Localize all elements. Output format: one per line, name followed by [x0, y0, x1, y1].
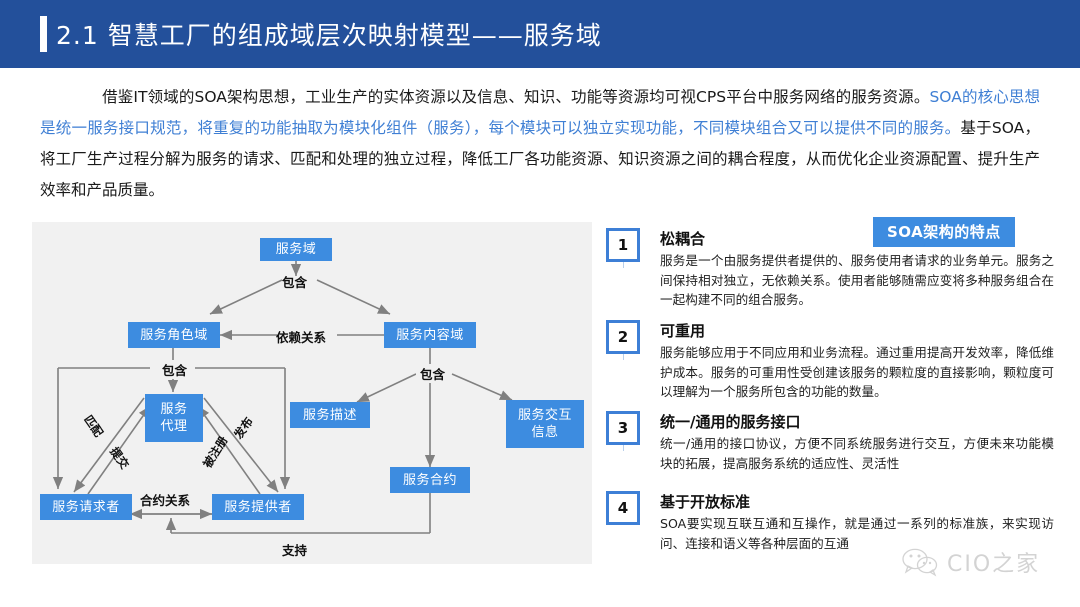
diagram-node-service-content-domain[interactable]: 服务内容域: [384, 322, 476, 348]
feature-number-badge: 3: [606, 411, 640, 445]
edge-label-contains-top: 包含: [282, 272, 307, 291]
feature-text-block: 统一/通用的服务接口 统一/通用的接口协议，方便不同系统服务进行交互，方便未来功…: [660, 411, 1054, 473]
node-label: 服务角色域: [140, 327, 208, 344]
feature-number-column: 2: [604, 320, 660, 354]
body-paragraph: 借鉴IT领域的SOA架构思想，工业生产的实体资源以及信息、知识、功能等资源均可视…: [40, 82, 1040, 206]
feature-body: 服务能够应用于不同应用和业务流程。通过重用提高开发效率，降低维护成本。服务的可重…: [660, 343, 1054, 402]
feature-connector-line: [623, 262, 624, 268]
diagram-node-service-requester[interactable]: 服务请求者: [40, 494, 132, 520]
watermark-text: CIO之家: [947, 546, 1040, 578]
slide-page: 2.1 智慧工厂的组成域层次映射模型——服务域 借鉴IT领域的SOA架构思想，工…: [0, 0, 1080, 607]
feature-item[interactable]: 1 松耦合 服务是一个由服务提供者提供的、服务使用者请求的业务单元。服务之间保持…: [604, 228, 1054, 320]
diagram-node-service-role-domain[interactable]: 服务角色域: [128, 322, 220, 348]
watermark: CIO之家: [900, 546, 1040, 578]
node-label: 服务描述: [303, 407, 357, 424]
feature-heading: 基于开放标准: [660, 491, 1054, 513]
feature-number-badge: 1: [606, 228, 640, 262]
edge-label-text: 合约关系: [140, 493, 190, 508]
diagram-node-service-provider[interactable]: 服务提供者: [212, 494, 304, 520]
paragraph-segment-1: 借鉴IT领域的SOA架构思想，工业生产的实体资源以及信息、知识、功能等资源均可视…: [102, 88, 929, 106]
diagram-node-service-contract[interactable]: 服务合约: [390, 467, 470, 493]
feature-item[interactable]: 2 可重用 服务能够应用于不同应用和业务流程。通过重用提高开发效率，降低维护成本…: [604, 320, 1054, 411]
feature-item[interactable]: 3 统一/通用的服务接口 统一/通用的接口协议，方便不同系统服务进行交互，方便未…: [604, 411, 1054, 491]
feature-text-block: 基于开放标准 SOA要实现互联互通和互操作，就是通过一系列的标准族，来实现访问、…: [660, 491, 1054, 553]
feature-item[interactable]: 4 基于开放标准 SOA要实现互联互通和互操作，就是通过一系列的标准族，来实现访…: [604, 491, 1054, 553]
edge-label-text: 支持: [282, 543, 307, 558]
feature-body: 统一/通用的接口协议，方便不同系统服务进行交互，方便未来功能模块的拓展，提高服务…: [660, 434, 1054, 473]
slide-header: 2.1 智慧工厂的组成域层次映射模型——服务域: [0, 0, 1080, 68]
feature-number-badge: 4: [606, 491, 640, 525]
wechat-icon: [900, 547, 940, 577]
edge-label-text: 包含: [162, 363, 187, 378]
diagram-node-service-description[interactable]: 服务描述: [290, 402, 370, 428]
header-accent-bar: [40, 16, 47, 52]
node-label-line1: 服务交互: [518, 407, 572, 424]
node-label-line1: 服务: [160, 401, 187, 418]
feature-heading: 可重用: [660, 320, 1054, 342]
edge-label-support: 支持: [282, 540, 307, 559]
edge-label-dependency: 依赖关系: [276, 327, 326, 346]
edge-label-contains-right: 包含: [416, 364, 449, 383]
service-domain-diagram: 服务域 服务角色域 服务内容域 服务 代理 服务请求者 服务提供者 服务描述 服…: [32, 222, 592, 564]
diagram-node-service-agent[interactable]: 服务 代理: [145, 394, 203, 442]
edge-label-contract-relation: 合约关系: [140, 490, 190, 509]
diagram-node-service-interaction-info[interactable]: 服务交互 信息: [506, 400, 584, 448]
edge-label-text: 依赖关系: [276, 330, 326, 345]
diagram-node-service-domain[interactable]: 服务域: [260, 238, 332, 261]
feature-number-column: 4: [604, 491, 660, 525]
node-label: 服务提供者: [224, 499, 292, 516]
feature-heading: 松耦合: [660, 228, 1054, 250]
soa-feature-list: 1 松耦合 服务是一个由服务提供者提供的、服务使用者请求的业务单元。服务之间保持…: [604, 228, 1054, 553]
feature-text-block: 松耦合 服务是一个由服务提供者提供的、服务使用者请求的业务单元。服务之间保持相对…: [660, 228, 1054, 310]
node-label-line2: 代理: [160, 418, 187, 435]
feature-number-badge: 2: [606, 320, 640, 354]
node-label: 服务请求者: [52, 499, 120, 516]
feature-text-block: 可重用 服务能够应用于不同应用和业务流程。通过重用提高开发效率，降低维护成本。服…: [660, 320, 1054, 402]
feature-connector-line: [623, 445, 624, 451]
edge-label-contains-left: 包含: [158, 360, 191, 379]
feature-heading: 统一/通用的服务接口: [660, 411, 1054, 433]
feature-body: 服务是一个由服务提供者提供的、服务使用者请求的业务单元。服务之间保持相对独立，无…: [660, 251, 1054, 310]
node-label: 服务合约: [403, 472, 457, 489]
edge-label-text: 包含: [282, 275, 307, 290]
edge-label-text: 包含: [420, 367, 445, 382]
feature-connector-line: [623, 354, 624, 360]
node-label-line2: 信息: [531, 424, 558, 441]
node-label: 服务内容域: [396, 327, 464, 344]
node-label: 服务域: [276, 241, 317, 258]
feature-number-column: 1: [604, 228, 660, 262]
feature-number-column: 3: [604, 411, 660, 445]
page-title: 2.1 智慧工厂的组成域层次映射模型——服务域: [56, 16, 602, 52]
